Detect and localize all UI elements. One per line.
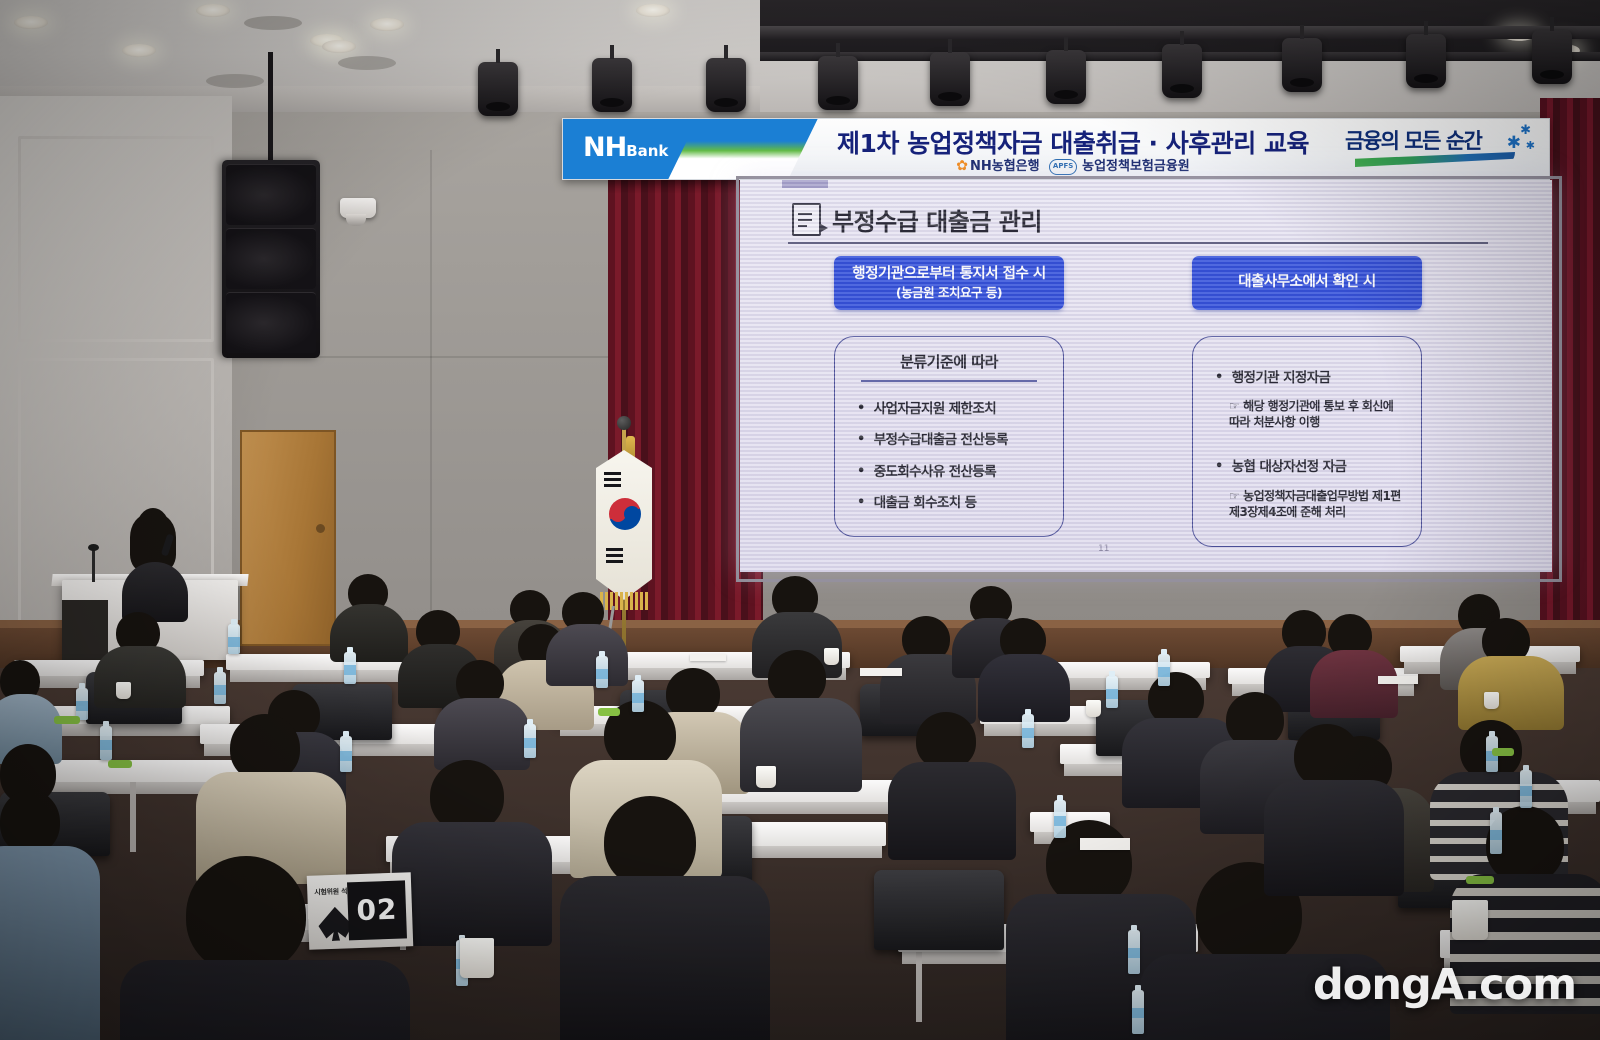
column-right-header-line1: 대출사무소에서 확인 시 bbox=[1198, 273, 1416, 293]
water-bottle bbox=[1128, 930, 1140, 974]
taeguk-symbol bbox=[609, 498, 641, 530]
list-item: •사업자금지원 제한조치 bbox=[845, 394, 1053, 426]
list-item: •대출금 회수조치 등 bbox=[845, 488, 1053, 520]
attendee-head bbox=[1294, 724, 1360, 788]
stage-light bbox=[1162, 44, 1202, 98]
bullet-dot-icon: • bbox=[1215, 370, 1223, 388]
microphone-stand bbox=[92, 548, 95, 582]
event-banner: NHBank 제1차 농업정책자금 대출취급 · 사후관리 교육 ✿NH농협은행… bbox=[562, 118, 1550, 180]
note-text: 해당 행정기관에 통보 후 회신에 따라 처분사항 이행 bbox=[1229, 399, 1393, 429]
ceiling-downlight bbox=[196, 4, 230, 17]
column-left-box-title: 분류기준에 따라 bbox=[845, 351, 1053, 372]
paper-cup bbox=[1086, 700, 1101, 717]
water-bottle bbox=[1520, 770, 1532, 808]
trigram-icon bbox=[606, 554, 623, 557]
organizer-secondary: 농업정책보험금융원 bbox=[1082, 159, 1190, 174]
column-right-note: ☞해당 행정기관에 통보 후 회신에 따라 처분사항 이행 bbox=[1203, 394, 1411, 440]
slide-title-group: 부정수급 대출금 관리 bbox=[792, 202, 1042, 237]
stage-light bbox=[478, 62, 518, 116]
bullet-dot-icon: • bbox=[1215, 459, 1223, 477]
pointing-hand-icon: ☞ bbox=[1229, 489, 1239, 503]
water-bottle bbox=[214, 672, 226, 704]
podium-side-panel bbox=[62, 600, 108, 660]
bullet-text: 사업자금지원 제한조치 bbox=[874, 401, 996, 419]
attendee-torso bbox=[120, 960, 410, 1040]
table-leg bbox=[130, 782, 136, 852]
attendee-torso bbox=[392, 822, 552, 946]
water-bottle bbox=[1054, 800, 1066, 838]
bullet-text: 대출금 회수조치 등 bbox=[874, 495, 977, 513]
bullet-text: 행정기관 지정자금 bbox=[1232, 370, 1331, 388]
stage-light bbox=[706, 58, 746, 112]
placard-number: 02 bbox=[347, 880, 407, 940]
slide-column-left: 행정기관으로부터 통지서 접수 시 (농금원 조치요구 등) 분류기준에 따라 … bbox=[834, 256, 1064, 537]
water-bottle bbox=[344, 652, 356, 684]
trigram-icon bbox=[606, 560, 623, 563]
water-bottle bbox=[100, 726, 112, 760]
side-door bbox=[240, 430, 336, 646]
slide-tab-decoration bbox=[782, 180, 828, 188]
nh-logo-subtext: Bank bbox=[626, 142, 668, 160]
bullet-text: 중도회수사유 전산등록 bbox=[874, 464, 996, 482]
table-leg bbox=[916, 952, 922, 1022]
ceiling-downlight bbox=[636, 4, 670, 17]
water-bottle bbox=[1158, 654, 1170, 686]
slide-title-underline bbox=[788, 242, 1488, 244]
column-right-note-2: ☞농업정책자금대출업무방법 제1편제3장제4조에 준해 처리 bbox=[1203, 484, 1411, 530]
column-left-body: 분류기준에 따라 •사업자금지원 제한조치 •부정수급대출금 전산등록 •중도회… bbox=[834, 336, 1064, 537]
column-left-header-line1: 행정기관으로부터 통지서 접수 시 bbox=[840, 265, 1058, 285]
green-item bbox=[1492, 748, 1514, 756]
bullet-dot-icon: • bbox=[857, 432, 865, 450]
bullet-text: 농협 대상자선정 자금 bbox=[1232, 459, 1347, 477]
wall-panel-left bbox=[0, 96, 232, 656]
attendee-torso bbox=[888, 762, 1016, 860]
ceiling-downlight bbox=[14, 16, 48, 29]
green-item bbox=[1466, 876, 1494, 884]
water-bottle bbox=[632, 680, 644, 712]
banner-organizers: ✿NH농협은행 APFS농업정책보험금융원 bbox=[813, 155, 1333, 175]
ceiling-vent bbox=[206, 74, 264, 88]
water-bottle bbox=[596, 656, 608, 688]
star-icon: ✱ bbox=[1520, 123, 1531, 138]
nh-flower-icon: ✿ bbox=[956, 158, 968, 174]
bullet-dot-icon: • bbox=[857, 495, 865, 513]
stage-light bbox=[1532, 30, 1572, 84]
trigram-icon bbox=[606, 548, 623, 551]
ceiling-downlight bbox=[370, 18, 404, 31]
attendee-torso bbox=[434, 698, 530, 770]
water-bottle bbox=[1106, 676, 1118, 708]
desk-placard: 시험위원 석 02 bbox=[307, 872, 414, 950]
chair bbox=[874, 870, 1004, 950]
bullet-dot-icon: • bbox=[857, 401, 865, 419]
paper-cup bbox=[460, 938, 494, 978]
list-item: •중도회수사유 전산등록 bbox=[845, 457, 1053, 489]
water-bottle bbox=[1132, 990, 1144, 1034]
list-item: •행정기관 지정자금 bbox=[1203, 363, 1411, 395]
attendee-head bbox=[0, 790, 60, 854]
paper-cup bbox=[824, 648, 839, 665]
water-bottle bbox=[1022, 714, 1034, 748]
star-icon: ✱ bbox=[1526, 139, 1535, 152]
bullet-text: 부정수급대출금 전산등록 bbox=[874, 432, 1008, 450]
note-text: 농업정책자금대출업무방법 제1편제3장제4조에 준해 처리 bbox=[1229, 489, 1401, 519]
slide-page-number: 11 bbox=[1098, 544, 1109, 554]
trigram-icon bbox=[604, 484, 621, 487]
watermark: dongA.com bbox=[1313, 960, 1576, 1010]
attendee-torso bbox=[1264, 780, 1404, 896]
bullet-dot-icon: • bbox=[857, 464, 865, 482]
ceiling-downlight bbox=[322, 40, 356, 53]
paper-cup bbox=[1484, 692, 1499, 709]
attendee-head bbox=[186, 856, 306, 974]
star-icon: ✱ bbox=[1507, 133, 1521, 153]
handout-paper bbox=[860, 668, 902, 676]
line-array-speaker bbox=[222, 160, 320, 358]
column-left-bullet-list: •사업자금지원 제한조치 •부정수급대출금 전산등록 •중도회수사유 전산등록 … bbox=[845, 394, 1053, 520]
green-item bbox=[54, 716, 80, 724]
stage-light bbox=[930, 52, 970, 106]
speaker-hanging-rod bbox=[268, 52, 273, 164]
attendee-torso bbox=[1458, 656, 1564, 730]
paper-cup bbox=[756, 766, 776, 788]
wall-seam bbox=[430, 150, 432, 620]
attendee-torso bbox=[978, 654, 1070, 722]
list-item: •부정수급대출금 전산등록 bbox=[845, 425, 1053, 457]
green-item bbox=[108, 760, 132, 768]
stage-light bbox=[1406, 34, 1446, 88]
projection-screen: 부정수급 대출금 관리 행정기관으로부터 통지서 접수 시 (농금원 조치요구 … bbox=[740, 180, 1552, 572]
column-left-header: 행정기관으로부터 통지서 접수 시 (농금원 조치요구 등) bbox=[834, 256, 1064, 310]
trigram-icon bbox=[604, 478, 621, 481]
ceiling-vent bbox=[338, 56, 396, 70]
stage-light bbox=[592, 58, 632, 112]
attendee-torso bbox=[0, 846, 100, 1040]
microphone-head-icon bbox=[88, 544, 99, 551]
stage-light bbox=[1046, 50, 1086, 104]
slide-column-right: 대출사무소에서 확인 시 •행정기관 지정자금 ☞해당 행정기관에 통보 후 회… bbox=[1192, 256, 1422, 547]
handout-paper bbox=[690, 654, 726, 661]
nh-slogan-group: 금융의 모든 순간 ✱ ✱ ✱ bbox=[1345, 125, 1535, 173]
attendee-torso bbox=[560, 876, 770, 1040]
attendee-torso bbox=[330, 604, 408, 662]
ceiling-vent bbox=[244, 16, 302, 30]
trigram-icon bbox=[604, 472, 621, 475]
document-icon bbox=[792, 203, 821, 236]
nh-logo-text: NH bbox=[583, 132, 626, 163]
handout-paper bbox=[1378, 676, 1418, 684]
water-bottle bbox=[228, 624, 240, 654]
column-right-header: 대출사무소에서 확인 시 bbox=[1192, 256, 1422, 310]
column-right-bullet-list: •행정기관 지정자금 bbox=[1203, 363, 1411, 395]
column-left-header-line2: (농금원 조치요구 등) bbox=[840, 285, 1058, 302]
water-bottle bbox=[524, 724, 536, 758]
paper-cup bbox=[1452, 900, 1488, 940]
table-row bbox=[736, 822, 886, 846]
attendee-torso bbox=[94, 646, 186, 708]
list-item: •농협 대상자선정 자금 bbox=[1203, 452, 1411, 484]
green-item bbox=[598, 708, 620, 716]
pointing-hand-icon: ☞ bbox=[1229, 399, 1239, 413]
flag-finial bbox=[617, 416, 631, 430]
paper-cup bbox=[116, 682, 131, 699]
flag-fringe bbox=[600, 592, 648, 610]
nh-bank-logo: NHBank bbox=[583, 132, 668, 163]
placard-label: 시험위원 석 bbox=[314, 886, 347, 897]
stage-light bbox=[818, 56, 858, 110]
stage-light bbox=[1282, 38, 1322, 92]
column-left-box-rule bbox=[861, 380, 1037, 381]
slide-title-text: 부정수급 대출금 관리 bbox=[832, 202, 1042, 237]
apfs-logo-icon: APFS bbox=[1049, 159, 1077, 175]
water-bottle bbox=[1490, 812, 1502, 854]
cctv-camera bbox=[340, 198, 376, 218]
column-right-bullet-list-2: •농협 대상자선정 자금 bbox=[1203, 452, 1411, 484]
handout-paper bbox=[1080, 838, 1130, 850]
attendee-torso bbox=[546, 624, 628, 686]
water-bottle bbox=[340, 736, 352, 772]
ceiling-downlight bbox=[122, 44, 156, 57]
attendee-torso bbox=[1310, 650, 1398, 718]
organizer-primary: NH농협은행 bbox=[970, 159, 1040, 174]
photo-scene: NHBank 제1차 농업정책자금 대출취급 · 사후관리 교육 ✿NH농협은행… bbox=[0, 0, 1600, 1040]
attendee-head bbox=[604, 796, 696, 888]
column-right-body: •행정기관 지정자금 ☞해당 행정기관에 통보 후 회신에 따라 처분사항 이행… bbox=[1192, 336, 1422, 548]
